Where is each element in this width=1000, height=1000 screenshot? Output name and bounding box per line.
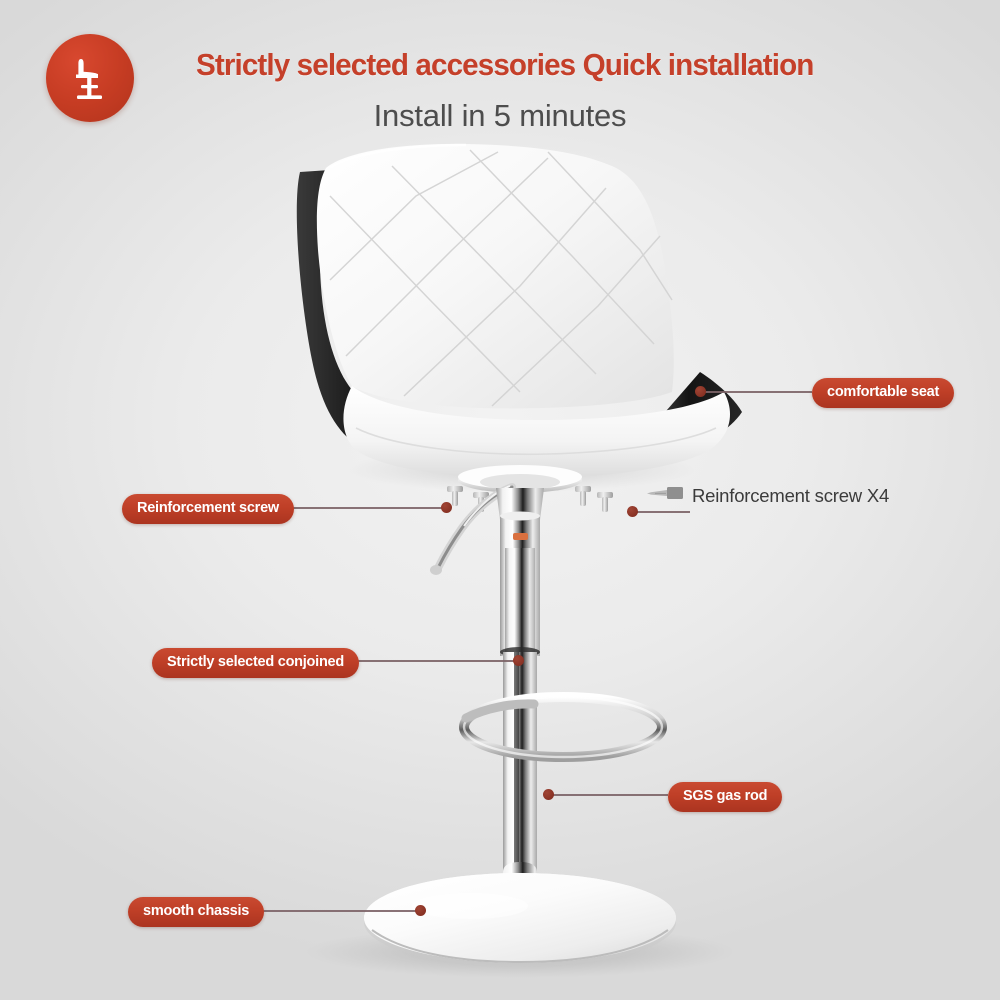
quilted-seat-group — [297, 144, 742, 478]
gas-lift-column — [496, 488, 544, 884]
anchor-dot-screw-left — [441, 502, 452, 513]
callout-strictly-selected-conjoined[interactable]: Strictly selected conjoined — [152, 648, 359, 678]
callout-reinforcement-screw-x4[interactable]: Reinforcement screw X4 — [692, 485, 889, 507]
footrest-ring — [464, 697, 662, 757]
callout-sgs-gas-rod[interactable]: SGS gas rod — [668, 782, 782, 812]
anchor-dot-screw-x4 — [627, 506, 638, 517]
screw-icon — [645, 484, 685, 502]
anchor-dot-seat — [695, 386, 706, 397]
anchor-dot-conjoined — [513, 655, 524, 666]
anchor-dot-chassis — [415, 905, 426, 916]
callout-smooth-chassis[interactable]: smooth chassis — [128, 897, 264, 927]
anchor-dot-gas-rod — [543, 789, 554, 800]
callout-reinforcement-screw[interactable]: Reinforcement screw — [122, 494, 294, 524]
callout-comfortable-seat[interactable]: comfortable seat — [812, 378, 954, 408]
infographic-canvas: Strictly selected accessories Quick inst… — [0, 0, 1000, 1000]
round-base-plate — [364, 862, 676, 967]
